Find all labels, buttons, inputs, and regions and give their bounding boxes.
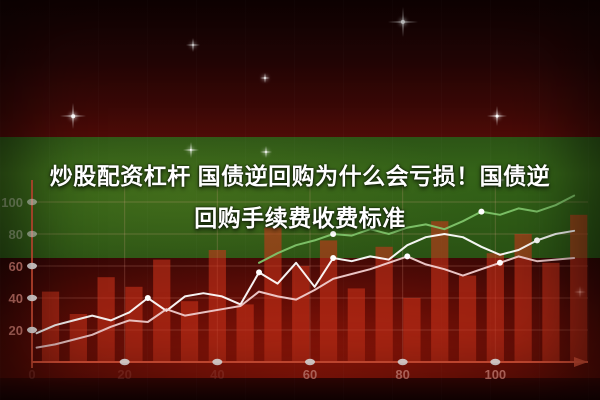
chart-bar [348, 288, 365, 362]
x-tick-label: 20 [117, 367, 131, 382]
background-top-dark [0, 0, 600, 138]
chart-marker [145, 295, 151, 301]
chart-marker [497, 260, 503, 266]
chart-bar [292, 266, 309, 362]
chart-bar [459, 276, 476, 362]
chart-bar [181, 301, 198, 362]
y-tick-label: 40 [9, 291, 23, 306]
chart-bar [515, 234, 532, 362]
y-tick-dot [27, 263, 37, 269]
banner-image: 20406080100204060801000 炒股配资杠杆 国债逆回购为什么会… [0, 0, 600, 400]
chart-marker [404, 253, 410, 259]
x-tick-dot [305, 359, 315, 365]
chart-marker [256, 269, 262, 275]
chart-marker [330, 255, 336, 261]
x-tick-label: 0 [28, 367, 35, 382]
y-tick-label: 20 [9, 323, 23, 338]
x-tick-dot [120, 359, 130, 365]
chart-bar [542, 263, 559, 362]
x-tick-dot [398, 359, 408, 365]
x-tick-dot [490, 359, 500, 365]
y-tick-label: 60 [9, 259, 23, 274]
y-tick-dot [27, 327, 37, 333]
x-tick-label: 100 [484, 367, 506, 382]
headline-line-2: 回购手续费收费标准 [0, 197, 600, 239]
headline-line-1: 炒股配资杠杆 国债逆回购为什么会亏损！国债逆 [50, 163, 550, 189]
chart-bar [209, 250, 226, 362]
chart-bar [487, 253, 504, 362]
x-tick-label: 40 [210, 367, 224, 382]
x-tick-dot [212, 359, 222, 365]
chart-bar [403, 298, 420, 362]
x-tick-label: 80 [395, 367, 409, 382]
y-tick-dot [27, 295, 37, 301]
x-tick-label: 60 [303, 367, 317, 382]
chart-bar [431, 221, 448, 362]
chart-bar [237, 304, 254, 362]
headline: 炒股配资杠杆 国债逆回购为什么会亏损！国债逆 回购手续费收费标准 [0, 155, 600, 239]
chart-bar [125, 287, 142, 362]
